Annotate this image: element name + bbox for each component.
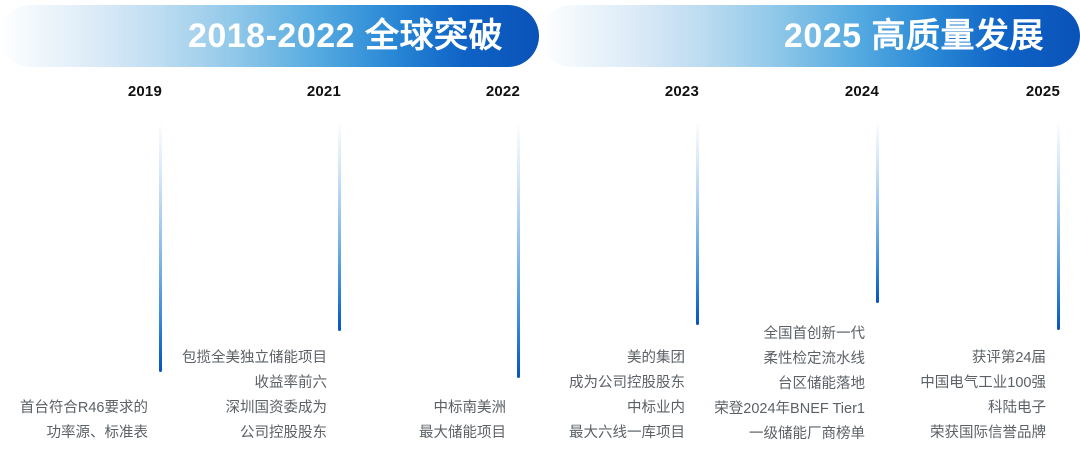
year-label-2025: 2025 <box>1026 84 1060 99</box>
desc-line: 深圳国资委成为 <box>182 396 327 421</box>
year-label-2024: 2024 <box>845 84 879 99</box>
year-label-2021: 2021 <box>307 84 341 99</box>
timeline-column-2025: 2025 获评第24届 中国电气工业100强 科陆电子 荣获国际信誉品牌 <box>900 0 1060 456</box>
desc-line: 最大六线一库项目 <box>569 421 685 446</box>
timeline-desc-2022: 中标南美洲 最大储能项目 <box>419 396 506 446</box>
timeline-column-2021: 2021 包揽全美独立储能项目 收益率前六 深圳国资委成为 公司控股股东 <box>180 0 341 456</box>
year-label-2022: 2022 <box>486 84 520 99</box>
desc-line: 荣登2024年BNEF Tier1 <box>714 397 865 422</box>
desc-line: 美的集团 <box>569 346 685 371</box>
desc-line: 中标南美洲 <box>419 396 506 421</box>
timeline-column-2022: 2022 中标南美洲 最大储能项目 <box>360 0 520 456</box>
desc-line: 中国电气工业100强 <box>920 371 1046 396</box>
desc-line: 收益率前六 <box>182 371 327 396</box>
timeline-stem-2022 <box>517 122 520 378</box>
desc-line: 全国首创新一代 <box>714 322 865 347</box>
timeline-infographic: { "banners": [ { "title": "2018-2022 全球突… <box>0 0 1080 456</box>
timeline-track: 2019 首台符合R46要求的 功率源、标准表 2021 包揽全美独立储能项目 … <box>0 0 1080 456</box>
year-label-2023: 2023 <box>665 84 699 99</box>
timeline-column-2023: 2023 美的集团 成为公司控股股东 中标业内 最大六线一库项目 <box>540 0 699 456</box>
timeline-desc-2021: 包揽全美独立储能项目 收益率前六 深圳国资委成为 公司控股股东 <box>182 346 327 446</box>
timeline-stem-2019 <box>159 122 162 372</box>
desc-line: 科陆电子 <box>920 396 1046 421</box>
desc-line: 柔性检定流水线 <box>714 347 865 372</box>
desc-line: 公司控股股东 <box>182 421 327 446</box>
timeline-desc-2025: 获评第24届 中国电气工业100强 科陆电子 荣获国际信誉品牌 <box>920 346 1046 446</box>
timeline-desc-2024: 全国首创新一代 柔性检定流水线 台区储能落地 荣登2024年BNEF Tier1… <box>714 322 865 447</box>
desc-line: 台区储能落地 <box>714 372 865 397</box>
desc-line: 包揽全美独立储能项目 <box>182 346 327 371</box>
desc-line: 首台符合R46要求的 <box>20 396 148 421</box>
timeline-column-2024: 2024 全国首创新一代 柔性检定流水线 台区储能落地 荣登2024年BNEF … <box>720 0 879 456</box>
timeline-stem-2021 <box>338 122 341 331</box>
timeline-stem-2023 <box>696 122 699 325</box>
timeline-desc-2023: 美的集团 成为公司控股股东 中标业内 最大六线一库项目 <box>569 346 685 446</box>
desc-line: 中标业内 <box>569 396 685 421</box>
desc-line: 最大储能项目 <box>419 421 506 446</box>
desc-line: 功率源、标准表 <box>20 421 148 446</box>
timeline-stem-2024 <box>876 122 879 303</box>
timeline-desc-2019: 首台符合R46要求的 功率源、标准表 <box>20 396 148 446</box>
timeline-column-2019: 2019 首台符合R46要求的 功率源、标准表 <box>0 0 162 456</box>
desc-line: 一级储能厂商榜单 <box>714 422 865 447</box>
desc-line: 荣获国际信誉品牌 <box>920 421 1046 446</box>
year-label-2019: 2019 <box>128 84 162 99</box>
desc-line: 成为公司控股股东 <box>569 371 685 396</box>
timeline-stem-2025 <box>1057 122 1060 330</box>
desc-line: 获评第24届 <box>920 346 1046 371</box>
